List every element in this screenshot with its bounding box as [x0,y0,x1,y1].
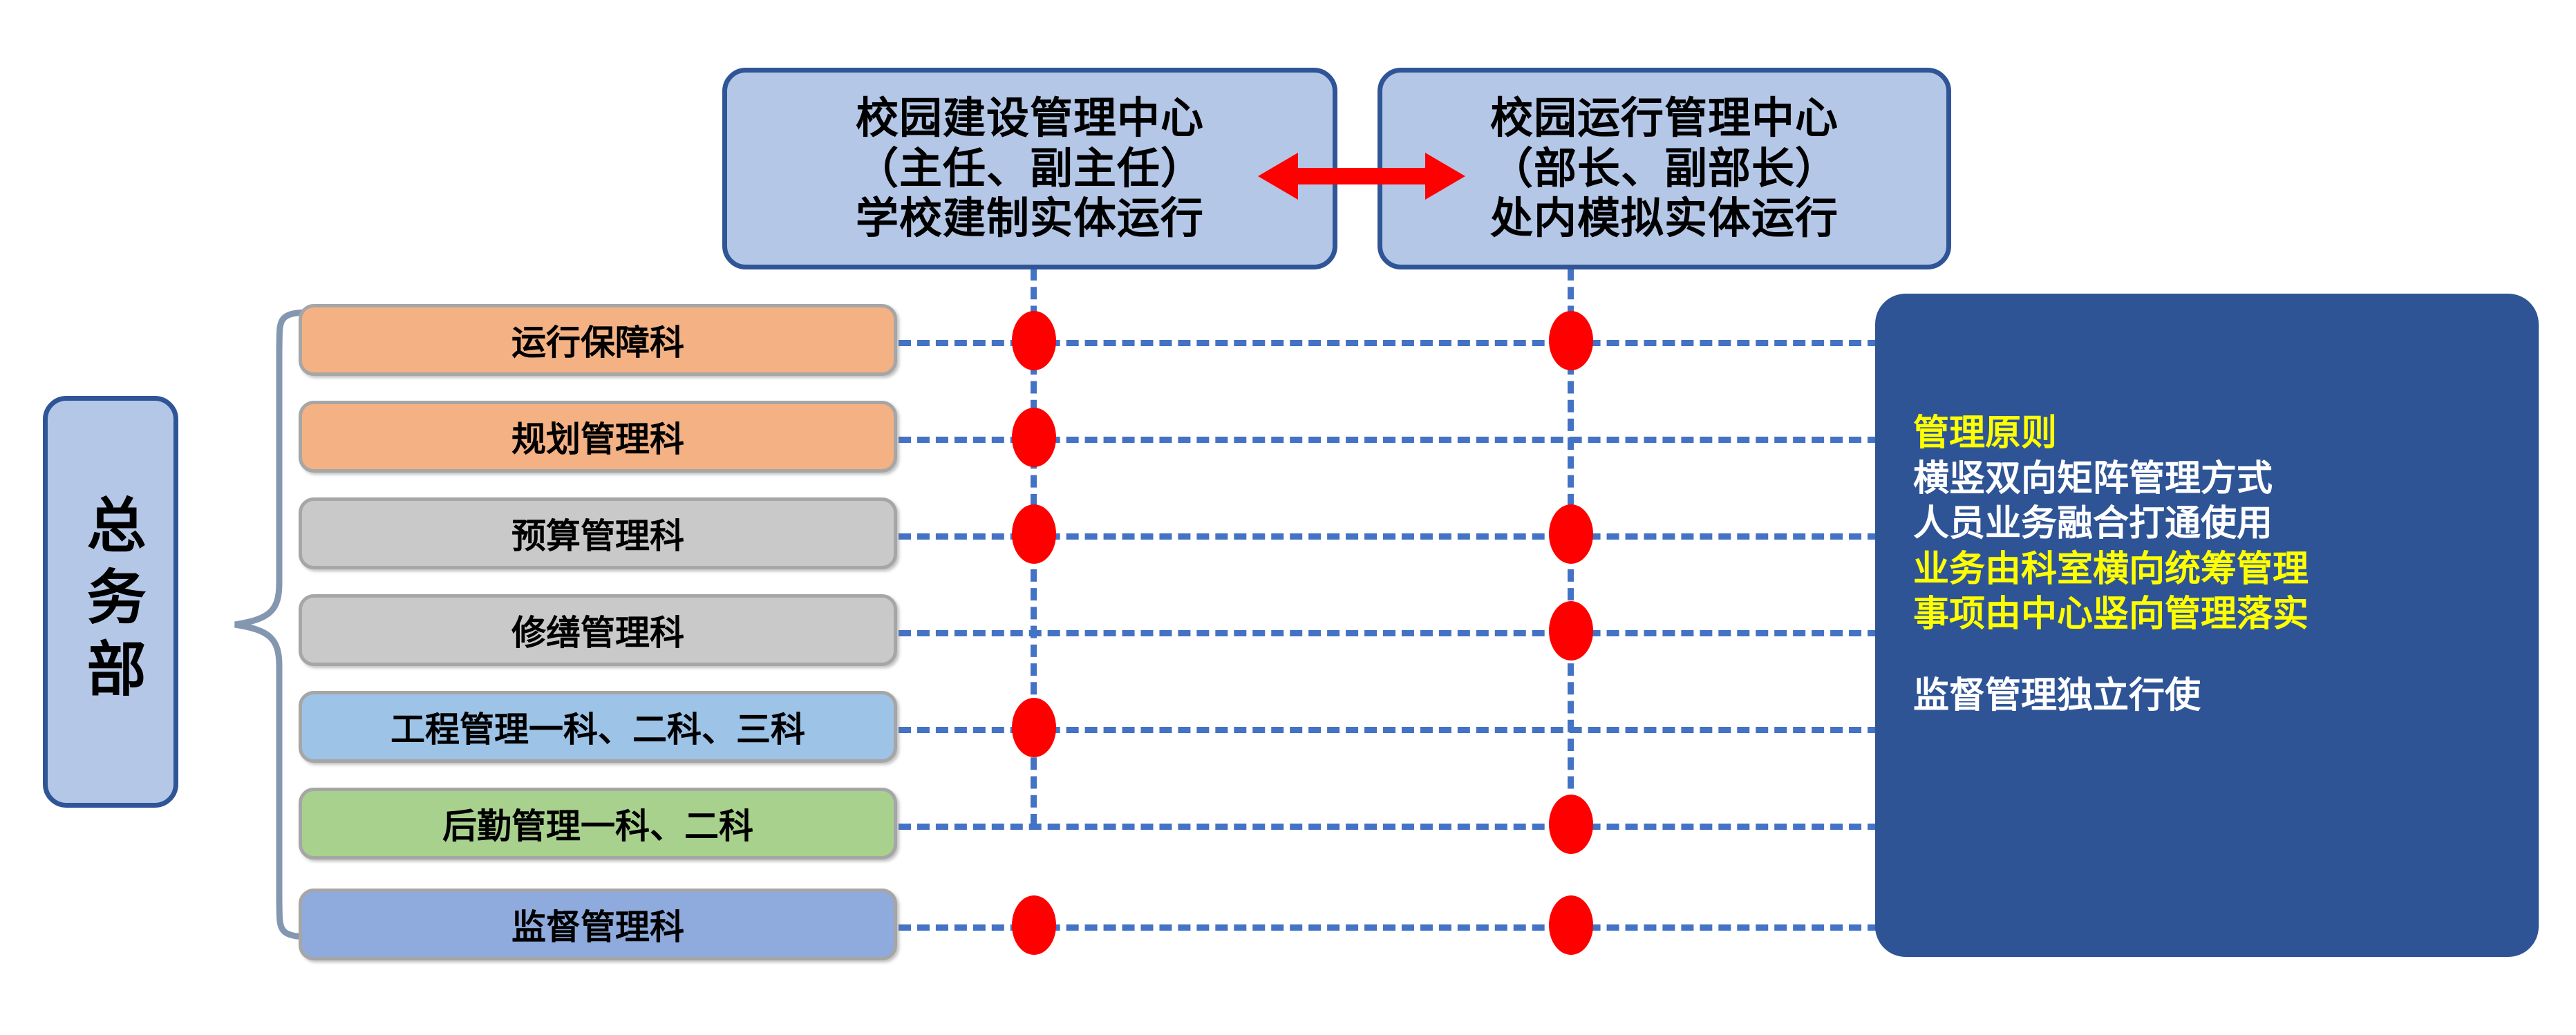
department-label: 总务部 [79,494,142,710]
section-row[interactable]: 后勤管理一科、二科 [299,788,897,860]
operation-center-mode: 处内模拟实体运行 [1490,193,1839,244]
junction-dot-c1-r7 [1012,895,1056,955]
principles-content: 管理原则 横竖双向矩阵管理方式 人员业务融合打通使用 业务由科室横向统筹管理 事… [1913,411,2518,719]
section-row[interactable]: 预算管理科 [299,497,897,569]
section-row[interactable]: 工程管理一科、二科、三科 [299,691,897,763]
junction-dot-c1-r2 [1012,408,1056,467]
junction-dot-c2-r7 [1549,895,1593,955]
diagram-canvas: 校园建设管理中心 （主任、副主任） 学校建制实体运行 校园运行管理中心 （部长、… [0,0,2576,1035]
section-row[interactable]: 修缮管理科 [299,594,897,666]
principles-footer: 监督管理独立行使 [1913,674,2518,719]
construction-center-mode: 学校建制实体运行 [856,193,1204,244]
section-label: 后勤管理一科、二科 [442,799,753,848]
section-label: 预算管理科 [511,509,684,558]
operation-center-roles: （部长、副部长） [1490,144,1839,194]
junction-dot-c2-r3 [1549,504,1593,564]
connector-hline-row-6 [899,824,1880,830]
principle-line-4: 事项由中心竖向管理落实 [1913,592,2518,638]
principle-line-3: 业务由科室横向统筹管理 [1913,547,2518,593]
junction-dot-c1-r1 [1012,311,1056,370]
principles-heading: 管理原则 [1913,411,2518,457]
construction-center-roles: （主任、副主任） [856,144,1204,194]
management-principles-panel: 管理原则 横竖双向矩阵管理方式 人员业务融合打通使用 业务由科室横向统筹管理 事… [1875,294,2539,957]
principle-line-1: 横竖双向矩阵管理方式 [1913,457,2518,502]
section-label: 工程管理一科、二科、三科 [391,702,805,752]
junction-dot-c2-r6 [1549,795,1593,854]
construction-center-box[interactable]: 校园建设管理中心 （主任、副主任） 学校建制实体运行 [722,68,1337,269]
connector-hline-row-4 [899,630,1880,636]
section-row[interactable]: 监督管理科 [299,889,897,960]
department-box-general-affairs[interactable]: 总务部 [43,396,178,808]
principle-line-2: 人员业务融合打通使用 [1913,502,2518,547]
construction-center-title: 校园建设管理中心 [856,93,1204,144]
junction-dot-c1-r5 [1012,698,1056,757]
section-label: 运行保障科 [511,315,684,365]
section-row[interactable]: 规划管理科 [299,401,897,473]
operation-center-box[interactable]: 校园运行管理中心 （部长、副部长） 处内模拟实体运行 [1378,68,1951,269]
section-label: 修缮管理科 [511,605,684,655]
junction-dot-c1-r3 [1012,504,1056,564]
section-row[interactable]: 运行保障科 [299,304,897,376]
section-label: 规划管理科 [511,412,684,462]
junction-dot-c2-r4 [1549,601,1593,661]
junction-dot-c2-r1 [1549,311,1593,370]
principles-spacer [1913,638,2518,674]
operation-center-title: 校园运行管理中心 [1490,93,1839,144]
section-label: 监督管理科 [511,900,684,949]
